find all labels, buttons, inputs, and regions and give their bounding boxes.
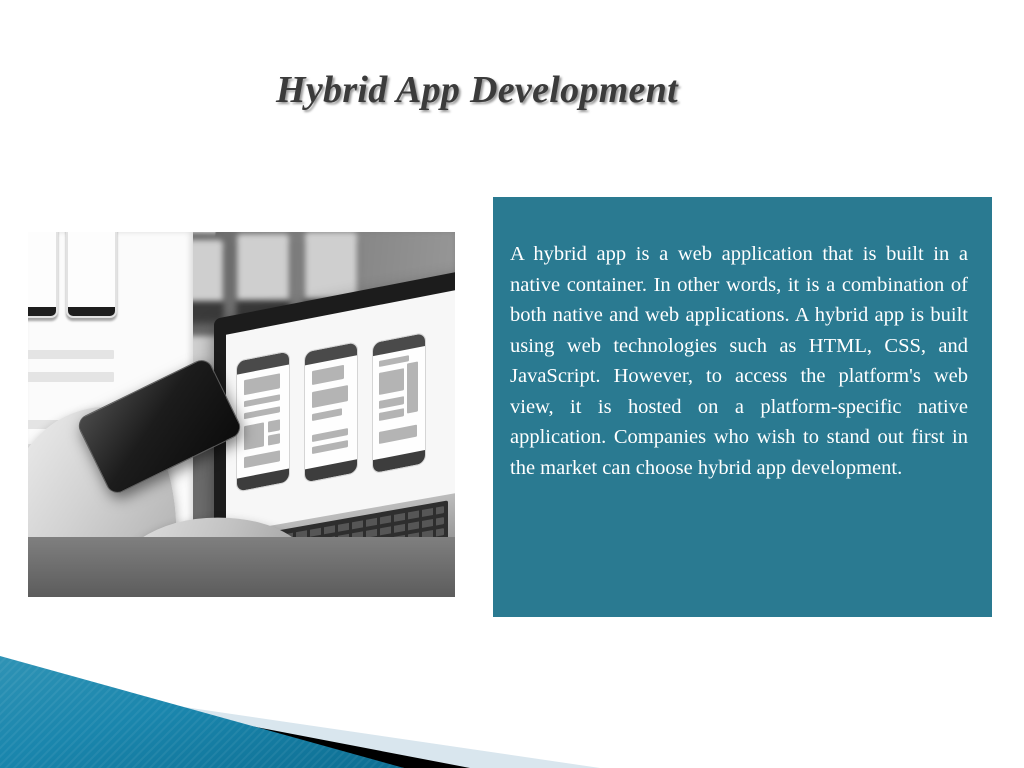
slide: Hybrid App Development	[0, 0, 1024, 768]
page-title: Hybrid App Development	[276, 68, 678, 112]
description-text: A hybrid app is a web application that i…	[510, 239, 968, 483]
hero-photo	[28, 232, 455, 597]
description-panel: A hybrid app is a web application that i…	[493, 197, 992, 617]
bottom-decoration	[0, 628, 1024, 768]
photo-desk	[28, 537, 455, 597]
